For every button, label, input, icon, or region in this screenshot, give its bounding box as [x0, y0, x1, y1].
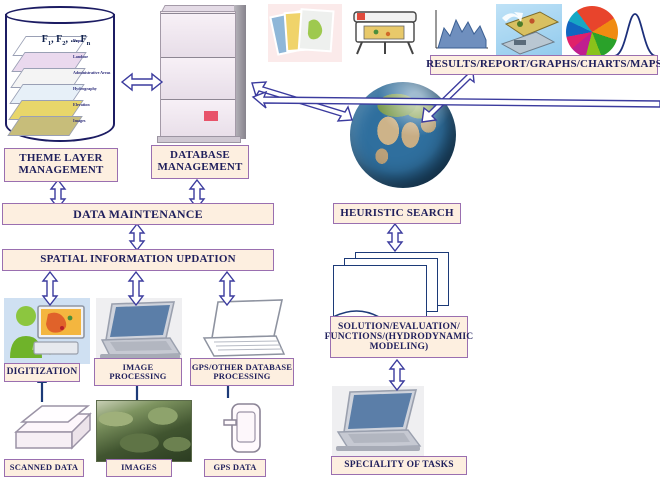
data-maintenance-label: DATA MAINTENANCE: [73, 208, 203, 221]
database-management-box[interactable]: DATABASE MANAGEMENT: [151, 145, 249, 179]
arrow-spatial-to-image-processing: [129, 272, 143, 305]
diagram-canvas: .ha{fill:#ffffff;stroke:#3b3b9e;stroke-w…: [0, 0, 660, 482]
arrow-spatial-to-digitization: [43, 272, 57, 305]
theme-layer-management-box[interactable]: THEME LAYER MANAGEMENT: [4, 148, 118, 182]
formula-label: F1, F2, ... Fn: [20, 34, 112, 47]
image-processing-label: IMAGE PROCESSING: [109, 363, 166, 381]
data-maintenance-box[interactable]: DATA MAINTENANCE: [2, 203, 274, 225]
scanned-data-label: SCANNED DATA: [10, 463, 78, 472]
arrow-globe-to-heuristic: [388, 224, 402, 251]
spatial-information-updation-box[interactable]: SPATIAL INFORMATION UPDATION: [2, 249, 274, 271]
digitization-box[interactable]: DIGITIZATION: [4, 363, 80, 382]
images-label: IMAGES: [121, 463, 157, 472]
results-report-box[interactable]: RESULTS/REPORT/GRAPHS/CHARTS/MAPS: [430, 55, 658, 75]
formula-f2-sub: 2: [62, 40, 65, 47]
arrow-spatial-to-gps-processing: [220, 272, 234, 305]
speciality-of-tasks-label: SPECIALITY OF TASKS: [344, 460, 453, 470]
spatial-information-updation-label: SPATIAL INFORMATION UPDATION: [40, 254, 235, 266]
arrow-solution-to-speciality: [390, 360, 404, 390]
digitization-label: DIGITIZATION: [7, 367, 78, 377]
gps-other-database-processing-label: GPS/OTHER DATABASE PROCESSING: [192, 363, 292, 381]
gps-data-label: GPS DATA: [213, 463, 256, 472]
solution-evaluation-box[interactable]: SOLUTION/EVALUATION/ FUNCTIONS/(HYDRODYN…: [330, 316, 468, 358]
solution-evaluation-label: SOLUTION/EVALUATION/ FUNCTIONS/(HYDRODYN…: [325, 322, 474, 353]
arrow-maintenance-to-spatial: [130, 224, 144, 250]
database-management-label: DATABASE MANAGEMENT: [157, 150, 242, 174]
gps-data-box[interactable]: GPS DATA: [204, 459, 266, 477]
formula-fn-sub: n: [87, 40, 91, 47]
gps-other-database-processing-box[interactable]: GPS/OTHER DATABASE PROCESSING: [190, 358, 294, 386]
heuristic-search-label: HEURISTIC SEARCH: [340, 208, 454, 220]
formula-f1-sub: 1: [48, 40, 51, 47]
speciality-of-tasks-box[interactable]: SPECIALITY OF TASKS: [331, 456, 467, 475]
heuristic-search-box[interactable]: HEURISTIC SEARCH: [333, 203, 461, 224]
arrow-theme-to-cabinet: [122, 74, 162, 90]
images-box[interactable]: IMAGES: [106, 459, 172, 477]
image-processing-box[interactable]: IMAGE PROCESSING: [94, 358, 182, 386]
scanned-data-box[interactable]: SCANNED DATA: [4, 459, 84, 477]
theme-layer-management-label: THEME LAYER MANAGEMENT: [18, 153, 103, 177]
results-report-label: RESULTS/REPORT/GRAPHS/CHARTS/MAPS: [426, 59, 660, 71]
